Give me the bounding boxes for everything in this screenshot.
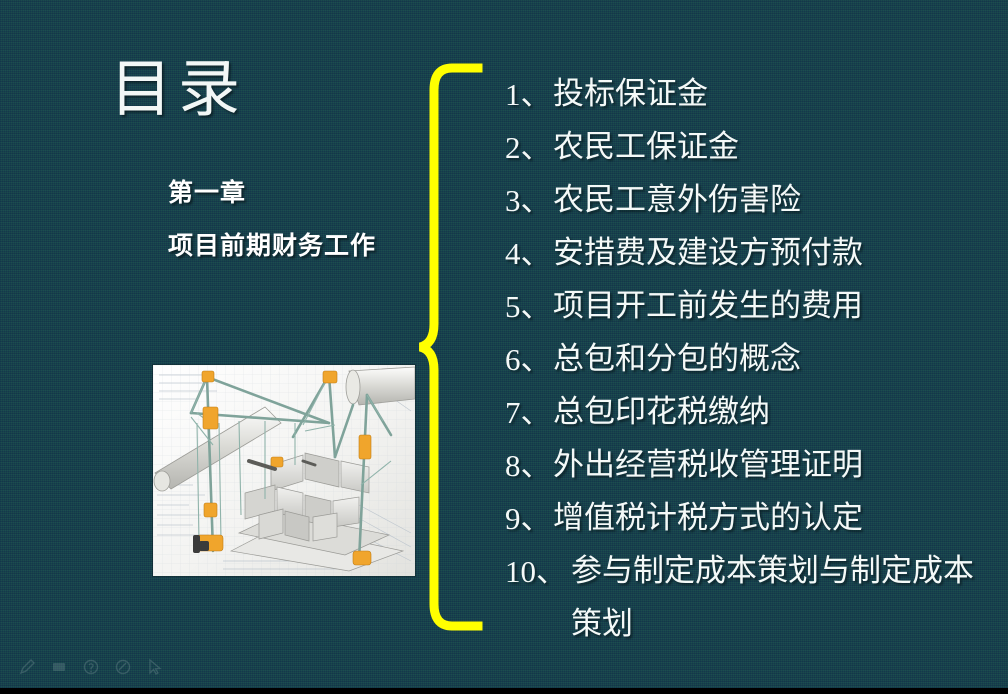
list-item-number: 8、 [505, 439, 553, 492]
list-item[interactable]: 1、 投标保证金 [505, 68, 995, 121]
table-of-contents-list: 1、 投标保证金 2、 农民工保证金 3、 农民工意外伤害险 4、 安措费及建设… [505, 68, 995, 651]
list-item-label: 安措费及建设方预付款 [553, 227, 995, 280]
list-item-label: 投标保证金 [553, 68, 995, 121]
chapter-title: 项目前期财务工作 [168, 231, 418, 262]
question-mark-icon[interactable] [82, 658, 100, 676]
list-item-number: 2、 [505, 121, 553, 174]
highlighter-icon[interactable] [114, 658, 132, 676]
list-item-number: 9、 [505, 492, 553, 545]
presenter-toolbar[interactable] [18, 658, 164, 676]
list-item[interactable]: 4、 安措费及建设方预付款 [505, 227, 995, 280]
chapter-number: 第一章 [168, 178, 418, 209]
list-item-label: 参与制定成本策划与制定成本策划 [571, 545, 995, 651]
list-item[interactable]: 3、 农民工意外伤害险 [505, 174, 995, 227]
list-item[interactable]: 5、 项目开工前发生的费用 [505, 280, 995, 333]
list-item-label: 农民工意外伤害险 [553, 174, 995, 227]
construction-site-photo [153, 365, 415, 576]
list-item-number: 3、 [505, 174, 553, 227]
list-item-number: 6、 [505, 333, 553, 386]
yellow-curly-brace [418, 62, 492, 632]
list-item[interactable]: 7、 总包印花税缴纳 [505, 386, 995, 439]
list-item-label: 总包和分包的概念 [553, 333, 995, 386]
list-item-number: 5、 [505, 280, 553, 333]
list-item-number: 4、 [505, 227, 553, 280]
list-item[interactable]: 9、 增值税计税方式的认定 [505, 492, 995, 545]
marker-icon[interactable] [50, 658, 68, 676]
page-title: 目录 [110, 56, 246, 121]
list-item-label: 总包印花税缴纳 [553, 386, 995, 439]
list-item[interactable]: 2、 农民工保证金 [505, 121, 995, 174]
arrow-pointer-icon[interactable] [146, 658, 164, 676]
chapter-block: 第一章 项目前期财务工作 [168, 178, 418, 261]
list-item-number: 1、 [505, 68, 553, 121]
list-item-label: 外出经营税收管理证明 [553, 439, 995, 492]
construction-site-illustration [153, 365, 415, 576]
list-item[interactable]: 6、 总包和分包的概念 [505, 333, 995, 386]
brace-shape [418, 62, 492, 632]
list-item[interactable]: 10、 参与制定成本策划与制定成本策划 [505, 545, 995, 651]
list-item-label: 增值税计税方式的认定 [553, 492, 995, 545]
list-item[interactable]: 8、 外出经营税收管理证明 [505, 439, 995, 492]
pen-icon[interactable] [18, 658, 36, 676]
list-item-label: 项目开工前发生的费用 [553, 280, 995, 333]
list-item-number: 10、 [505, 545, 571, 598]
list-item-label: 农民工保证金 [553, 121, 995, 174]
slide-canvas: 目录 第一章 项目前期财务工作 [0, 0, 1008, 694]
list-item-number: 7、 [505, 386, 553, 439]
